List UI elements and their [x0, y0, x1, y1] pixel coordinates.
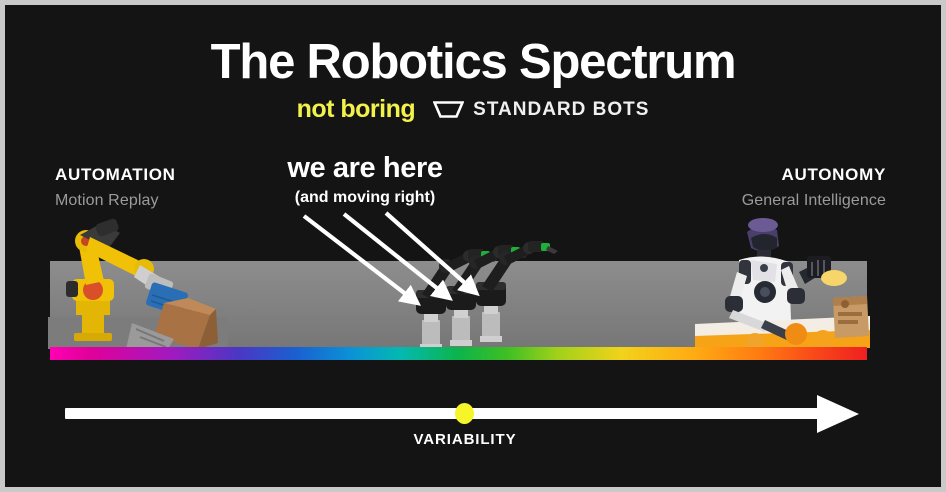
right-label-title: AUTONOMY — [586, 165, 886, 185]
variability-axis: VARIABILITY — [65, 395, 865, 439]
screenshot-frame: The Robotics Spectrum not boring STANDAR… — [0, 0, 946, 492]
axis-label: VARIABILITY — [65, 431, 865, 448]
industrial-robot-arm-photo — [48, 219, 228, 349]
collaborative-robot-arms-photo — [408, 226, 538, 351]
we-are-here-callout: we are here (and moving right) — [235, 153, 495, 207]
axis-position-marker[interactable] — [455, 403, 474, 424]
photo-band — [50, 261, 867, 347]
header-subrow: not boring STANDARD BOTS — [5, 95, 941, 124]
arrow-right-icon — [817, 395, 859, 433]
tagline-not-boring: not boring — [297, 95, 416, 124]
spectrum-right-label: AUTONOMY General Intelligence — [586, 165, 886, 210]
right-label-subtitle: General Intelligence — [586, 192, 886, 210]
poster-canvas: The Robotics Spectrum not boring STANDAR… — [5, 5, 941, 487]
callout-subline: (and moving right) — [235, 189, 495, 207]
axis-track — [65, 408, 825, 419]
page-title: The Robotics Spectrum — [5, 37, 941, 88]
brand-lockup: STANDARD BOTS — [433, 99, 649, 121]
color-spectrum-bar — [50, 347, 867, 360]
brand-name: STANDARD BOTS — [473, 99, 649, 121]
standard-bots-trapezoid-logo-icon — [433, 100, 464, 119]
callout-headline: we are here — [235, 153, 495, 185]
humanoid-robot-photo — [695, 216, 870, 348]
